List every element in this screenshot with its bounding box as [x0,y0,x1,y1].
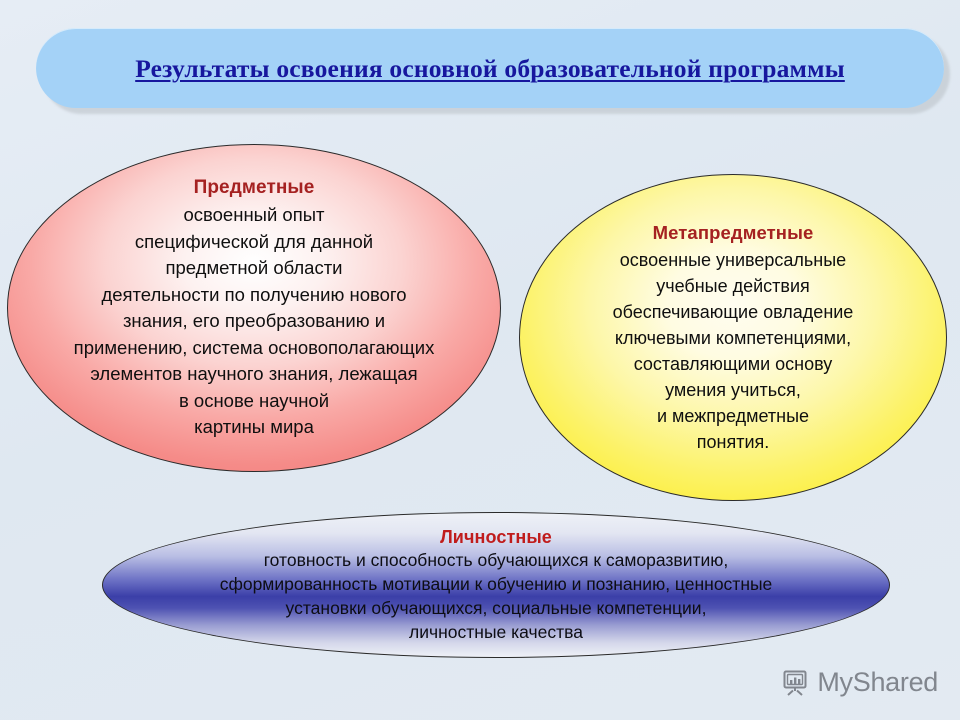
block-subject-content: Предметные освоенный опыт специфической … [8,175,500,441]
block-personal-results: Личностные готовность и способность обуч… [102,512,890,658]
title-banner: Результаты освоения основной образовател… [36,28,944,108]
block-personal-content: Личностные готовность и способность обуч… [103,526,889,644]
watermark-label: MyShared [817,667,938,698]
page-title: Результаты освоения основной образовател… [109,52,871,85]
block-metasubject-body: освоенные универсальные учебные действия… [526,247,940,455]
block-subject-results: Предметные освоенный опыт специфической … [7,144,501,472]
block-personal-heading: Личностные [117,526,875,548]
block-metasubject-content: Метапредметные освоенные универсальные у… [520,220,946,455]
slide-canvas: Результаты освоения основной образовател… [0,0,960,720]
block-subject-heading: Предметные [14,175,494,201]
block-personal-body: готовность и способность обучающихся к с… [117,548,875,644]
watermark: MyShared [780,667,938,698]
presentation-chart-icon [780,668,810,698]
block-subject-body: освоенный опыт специфической для данной … [14,202,494,441]
block-metasubject-heading: Метапредметные [526,220,940,246]
block-metasubject-results: Метапредметные освоенные универсальные у… [519,174,947,501]
